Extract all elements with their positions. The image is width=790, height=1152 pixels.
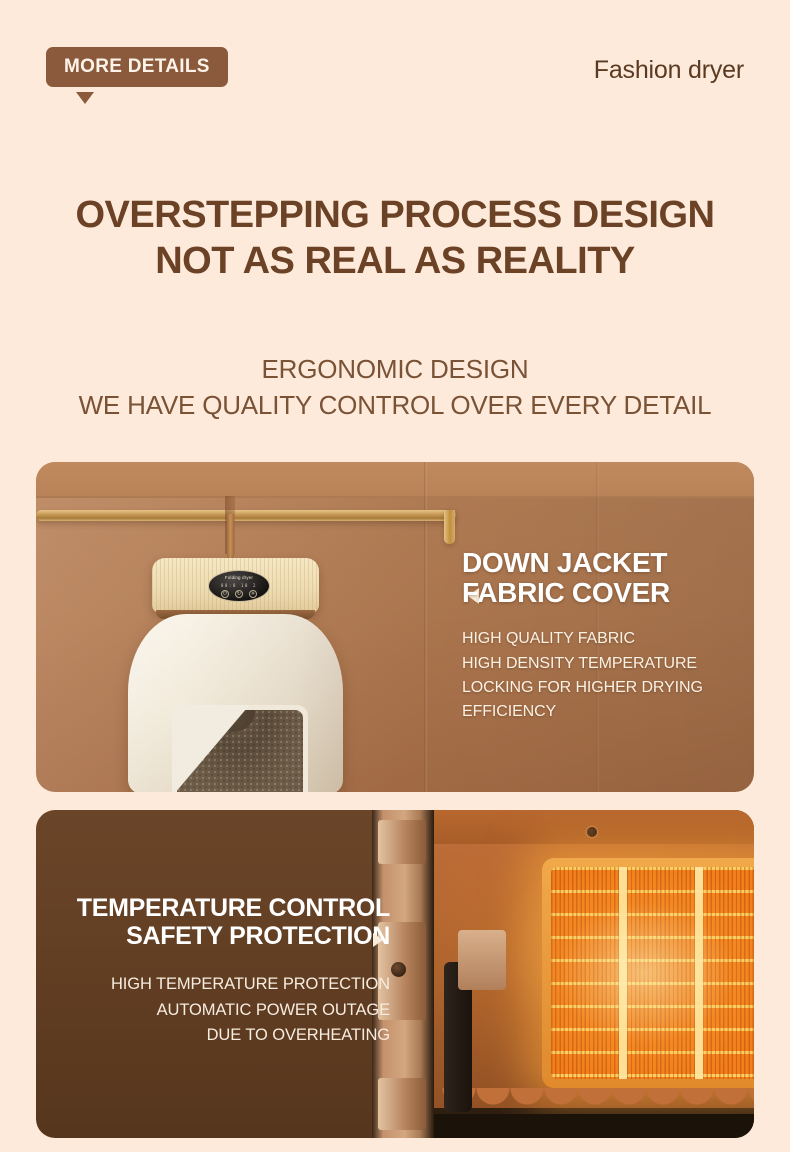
control-panel-buttons[interactable]: ⏻ ↻ ☀ [209,590,269,598]
panel-2-title-line-2: SAFETY PROTECTION [60,922,390,950]
subhead-line-2: WE HAVE QUALITY CONTROL OVER EVERY DETAI… [0,388,790,424]
panel-2-description: HIGH TEMPERATURE PROTECTION AUTOMATIC PO… [60,972,390,1049]
dryer-control-panel[interactable]: Folding dryer 88:8 18 2 ⏻ ↻ ☀ [208,570,270,602]
heater-glow-overlay [551,867,754,1079]
window-door-flap [172,705,250,792]
headline-line-1: OVERSTEPPING PROCESS DESIGN [0,192,790,238]
panel-1-text-block: DOWN JACKET FABRIC COVER HIGH QUALITY FA… [462,548,752,725]
heater-photo [372,810,754,1138]
more-details-badge[interactable]: MORE DETAILS [46,47,228,87]
hinge-pin-hole [391,962,406,977]
panel-2-title: TEMPERATURE CONTROL SAFETY PROTECTION [60,894,390,950]
panel-1-desc-line-2: HIGH DENSITY TEMPERATURE [462,652,752,676]
panel-2-desc-line-2: AUTOMATIC POWER OUTAGE [60,998,390,1024]
gold-hanging-rail [36,510,456,521]
page-header: MORE DETAILS Fashion dryer [0,0,790,120]
heater-casing-top [412,810,754,844]
heater-bracket [458,930,506,990]
feature-panel-temperature-control[interactable]: TEMPERATURE CONTROL SAFETY PROTECTION HI… [36,810,754,1138]
badge-pointer-tail [76,92,94,104]
panel-2-title-line-1: TEMPERATURE CONTROL [60,894,390,922]
panel-1-desc-line-4: EFFICIENCY [462,700,752,724]
panel-1-description: HIGH QUALITY FABRIC HIGH DENSITY TEMPERA… [462,627,752,724]
hinge-plate-bottom [378,1078,426,1130]
sub-headline: ERGONOMIC DESIGN WE HAVE QUALITY CONTROL… [0,352,790,423]
panel-1-desc-line-3: LOCKING FOR HIGHER DRYING [462,676,752,700]
main-headline: OVERSTEPPING PROCESS DESIGN NOT AS REAL … [0,192,790,285]
control-panel-label: Folding dryer [209,575,269,580]
heat-button-icon[interactable]: ☀ [249,590,257,598]
brand-title: Fashion dryer [594,56,744,85]
dryer-viewing-window [172,705,308,792]
panel-2-text-block: TEMPERATURE CONTROL SAFETY PROTECTION HI… [60,894,390,1049]
panel-2-desc-line-1: HIGH TEMPERATURE PROTECTION [60,972,390,998]
ptc-heating-element-frame [542,858,754,1088]
panel-1-title-line-2: FABRIC COVER [462,578,752,608]
power-button-icon[interactable]: ⏻ [221,590,229,598]
panel-1-title: DOWN JACKET FABRIC COVER [462,548,752,608]
timer-button-icon[interactable]: ↻ [235,590,243,598]
gold-rail-elbow [444,510,455,544]
dryer-hanger-hook [227,514,234,560]
heater-base-shadow [412,1114,754,1138]
ptc-heating-grid [551,867,754,1079]
panel-2-desc-line-3: DUE TO OVERHEATING [60,1023,390,1049]
wall-top-moulding [36,462,754,498]
hinge-plate-top [378,820,426,864]
casing-screw-icon [587,827,597,837]
headline-line-2: NOT AS REAL AS REALITY [0,238,790,284]
panel-1-title-line-1: DOWN JACKET [462,548,752,578]
feature-panel-down-jacket-cover[interactable]: Folding dryer 88:8 18 2 ⏻ ↻ ☀ DOWN JACKE… [36,462,754,792]
control-panel-display: 88:8 18 2 [209,583,269,588]
right-triangle-icon [373,933,383,947]
subhead-line-1: ERGONOMIC DESIGN [0,352,790,388]
panel-1-desc-line-1: HIGH QUALITY FABRIC [462,627,752,651]
